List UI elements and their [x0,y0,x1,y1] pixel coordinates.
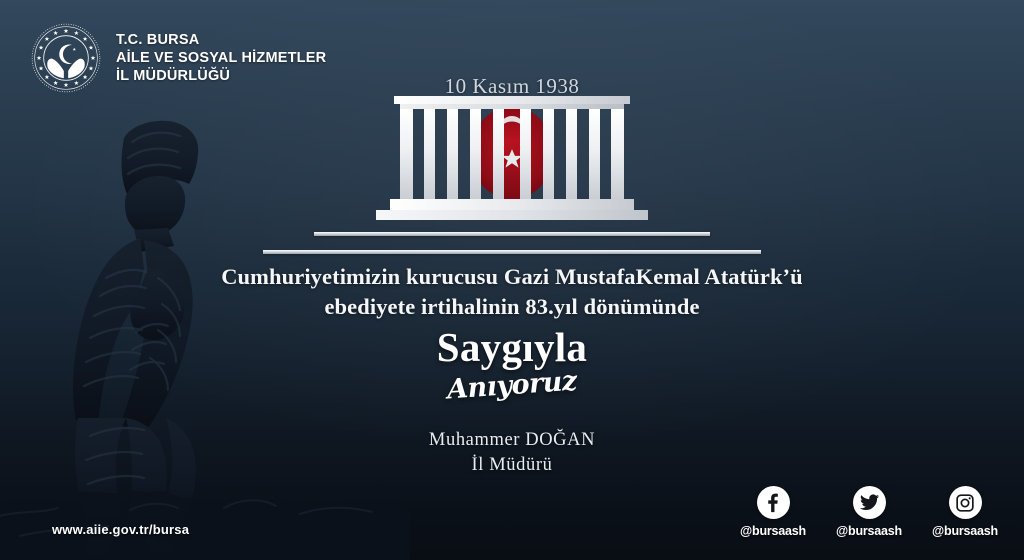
website-url[interactable]: www.aiie.gov.tr/bursa [52,522,189,537]
platform-rule-lower [263,250,761,254]
social-link-instagram[interactable]: @bursaash [928,486,1002,538]
signature-title: İl Müdürü [0,453,1024,478]
signature-block: Muhammer DOĞAN İl Müdürü [0,428,1024,477]
monument-steps [376,199,648,220]
social-link-twitter[interactable]: @bursaash [832,486,906,538]
logo-line-1: T.C. BURSA [116,32,326,50]
social-links: @bursaash @bursaash @bursaash [736,486,1002,538]
instagram-handle: @bursaash [932,524,998,538]
memorial-line-2: ebediyete irtihalinin 83.yıl dönümünde [0,292,1024,322]
anitkabir-monument [362,96,662,231]
signature-name: Muhammer DOĞAN [0,428,1024,453]
memorial-poster: T.C. BURSA AİLE VE SOSYAL HİZMETLER İL M… [0,0,1024,560]
memorial-line-1: Cumhuriyetimizin kurucusu Gazi MustafaKe… [0,262,1024,292]
twitter-handle: @bursaash [836,524,902,538]
memorial-message: Cumhuriyetimizin kurucusu Gazi MustafaKe… [0,262,1024,401]
memorial-script: Anıyoruz [446,366,578,406]
twitter-icon[interactable] [853,486,886,519]
facebook-icon[interactable] [757,486,790,519]
instagram-icon[interactable] [949,486,982,519]
platform-rule-upper [314,232,710,236]
memorial-emphasis: Saygıyla [0,326,1024,369]
social-link-facebook[interactable]: @bursaash [736,486,810,538]
facebook-handle: @bursaash [740,524,806,538]
logo-line-2: AİLE VE SOSYAL HİZMETLER [116,50,326,68]
